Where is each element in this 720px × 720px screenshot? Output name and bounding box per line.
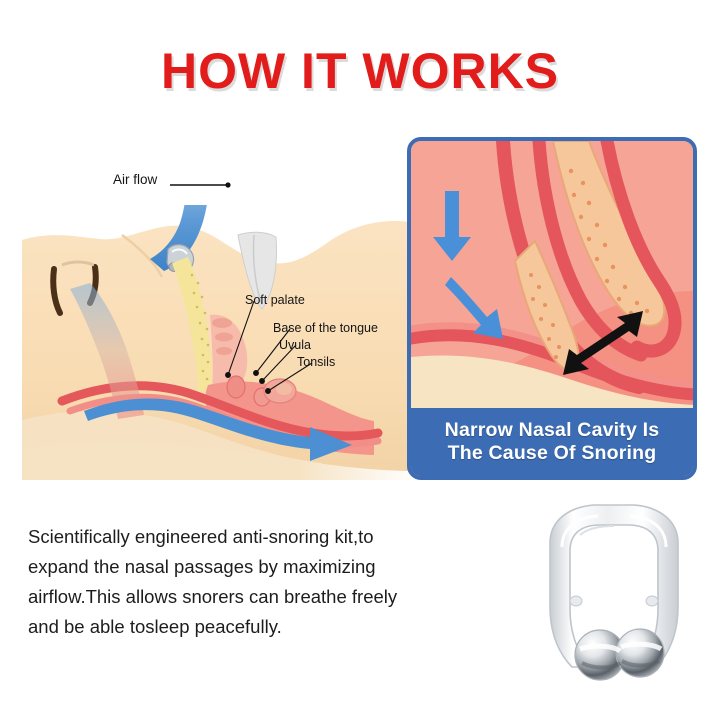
panel-caption: Narrow Nasal Cavity Is The Cause Of Snor… [411, 408, 693, 476]
head-cross-section-diagram [22, 205, 418, 480]
description-line-2: expand the nasal passages by maximizing [28, 552, 498, 582]
air-flow-leader-line [170, 178, 240, 192]
label-tonsils: Tonsils [297, 355, 335, 369]
product-nose-clip-image [518, 495, 708, 685]
label-air-flow: Air flow [113, 172, 157, 187]
narrow-nasal-cavity-panel: Narrow Nasal Cavity Is The Cause Of Snor… [407, 137, 697, 480]
label-uvula: Uvula [279, 338, 311, 352]
label-base-of-the-tongue: Base of the tongue [273, 321, 378, 335]
description-text: Scientifically engineered anti-snoring k… [28, 522, 498, 642]
panel-caption-line-1: Narrow Nasal Cavity Is [445, 419, 660, 442]
nasal-cavity-cross-section [411, 141, 693, 413]
clip-nub-left [570, 596, 582, 606]
clip-nub-right [646, 596, 658, 606]
description-line-3: airflow.This allows snorers can breathe … [28, 582, 498, 612]
page-title: HOW IT WORKS [0, 42, 720, 100]
description-line-4: and be able tosleep peacefully. [28, 612, 498, 642]
label-soft-palate: Soft palate [245, 293, 305, 307]
magnet-ball-right [616, 629, 664, 677]
panel-caption-line-2: The Cause Of Snoring [448, 442, 657, 465]
description-line-1: Scientifically engineered anti-snoring k… [28, 522, 498, 552]
poster-root: HOW IT WORKS [0, 0, 720, 720]
